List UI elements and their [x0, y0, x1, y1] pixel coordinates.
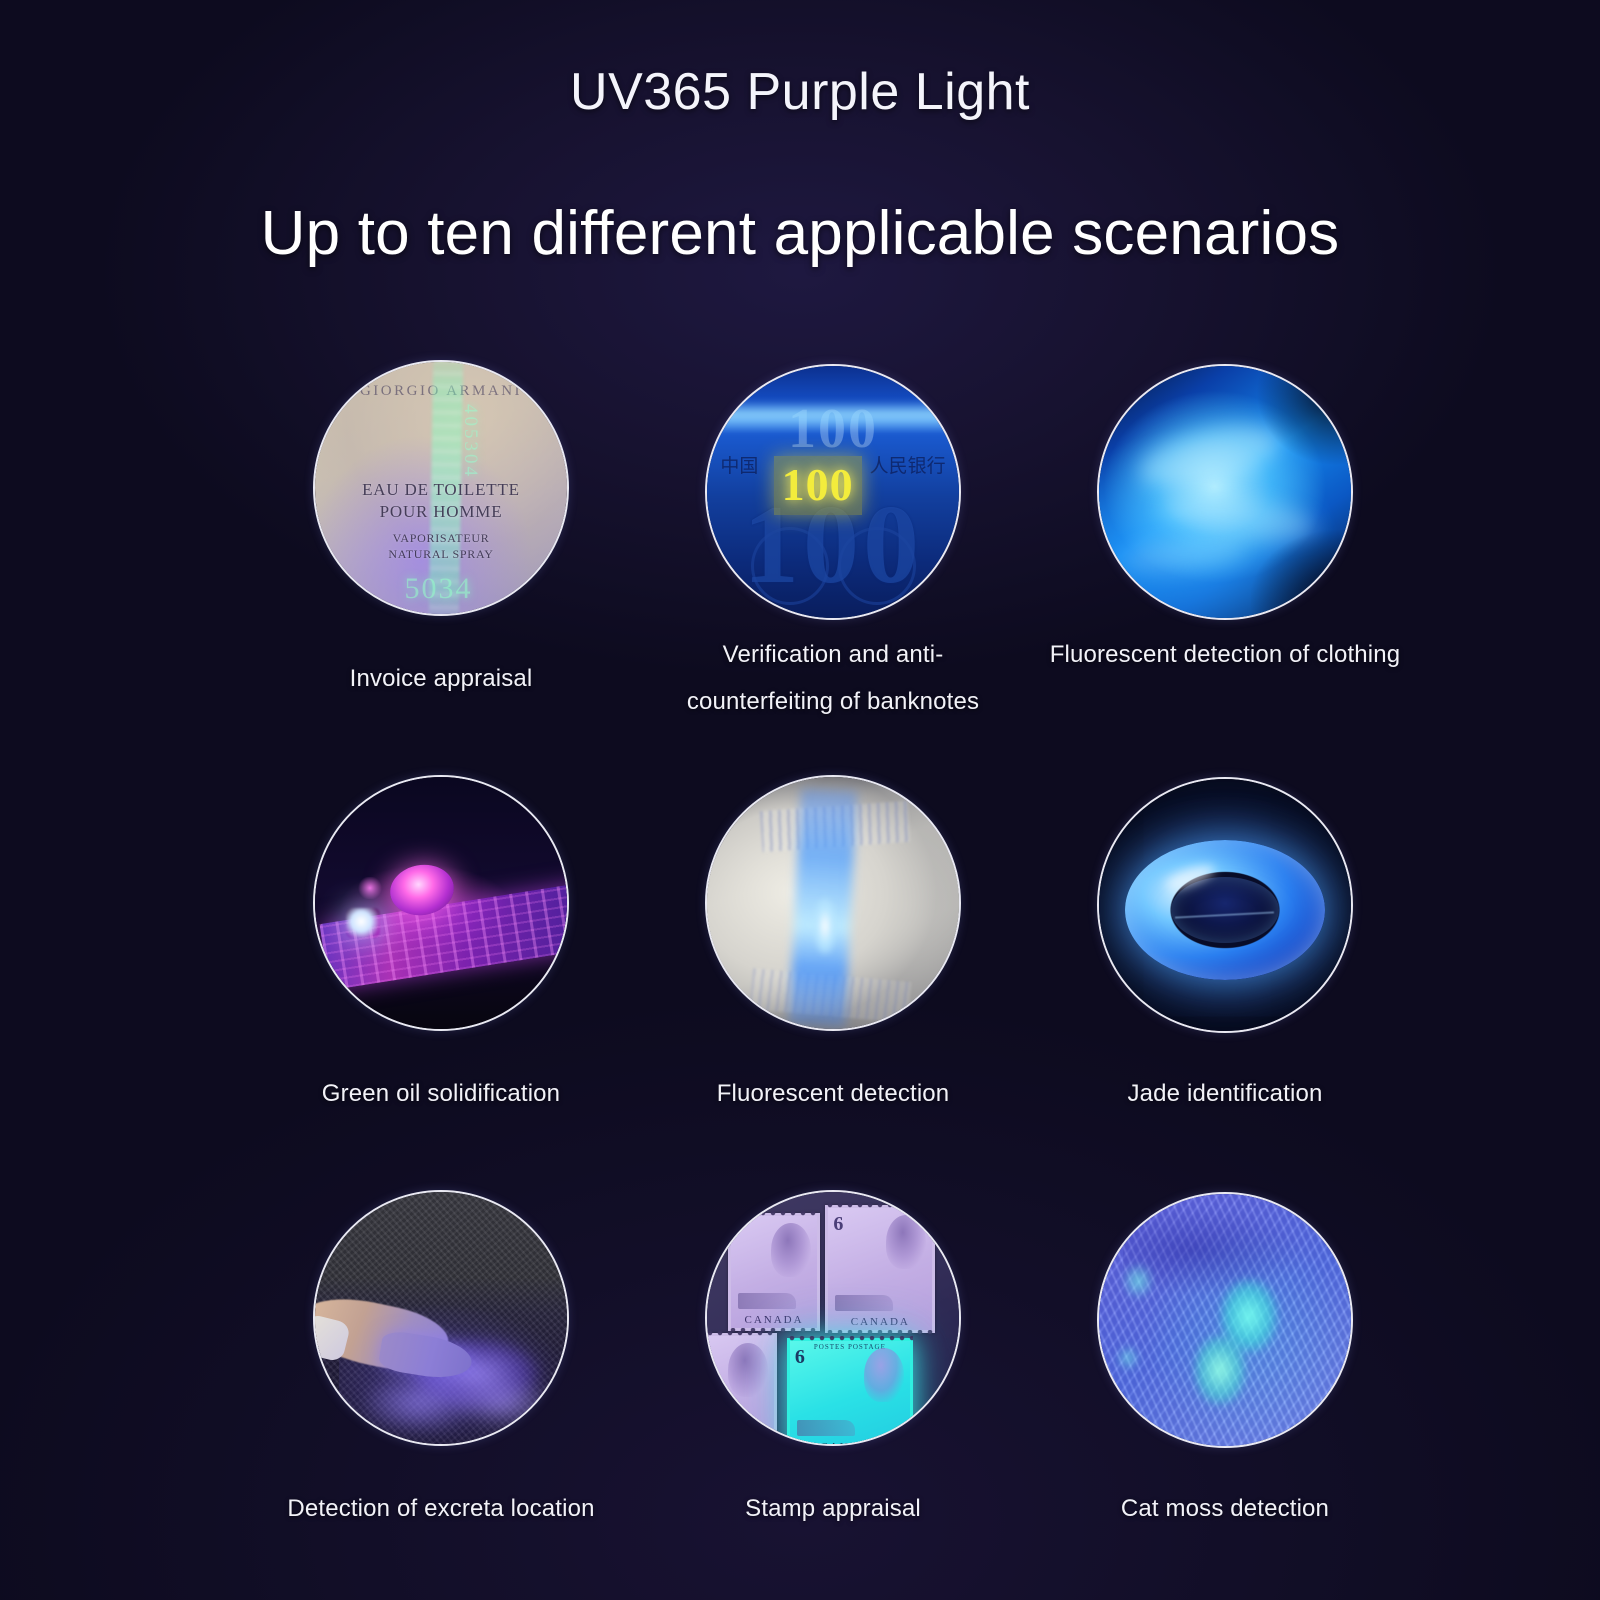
scenario-photo-stamps: CANADA 6 CANADA: [705, 1190, 961, 1446]
page-subtitle: Up to ten different applicable scenarios: [0, 198, 1600, 269]
scenario-image-wrap: [1097, 1192, 1353, 1448]
bank-text-right: 人民银行: [870, 451, 946, 478]
fluorescent-ringworm-patch: [1117, 1346, 1139, 1370]
stamp-country: CANADA: [787, 1441, 913, 1446]
cat-fur-photo: [1097, 1192, 1353, 1448]
postage-stamps-photo: CANADA 6 CANADA: [705, 1190, 961, 1446]
scenario-grid: GIORGIO ARMANI 405304 EAU DE TOILETTE PO…: [245, 360, 1420, 1600]
scenario-photo-circuit: [313, 775, 569, 1031]
perfume-line-3: VAPORISATEUR: [313, 531, 569, 546]
stamp-perforation: [787, 1336, 913, 1341]
stamp-country: CANADA: [728, 1314, 820, 1326]
banknote-seal-right: [838, 527, 916, 605]
infographic-page: UV365 Purple Light Up to ten different a…: [0, 0, 1600, 1600]
stamp-perforation: [825, 1330, 935, 1335]
pcb-uv-spark: [357, 877, 383, 899]
stamp-engraving: [738, 1293, 796, 1309]
scenario-card-stamp-appraisal[interactable]: CANADA 6 CANADA: [637, 1190, 1029, 1600]
perfume-label-photo: GIORGIO ARMANI 405304 EAU DE TOILETTE PO…: [313, 360, 569, 616]
fluorescent-ringworm-patch: [1194, 1335, 1246, 1405]
fluorescent-ringworm-patch: [1123, 1264, 1153, 1298]
scenario-photo-carpet: [313, 1190, 569, 1446]
scenario-caption: Fluorescent detection of clothing: [1029, 632, 1421, 679]
stamp-value: 6: [833, 1213, 843, 1236]
banknote-seal-left: [751, 527, 829, 605]
stamp-fluorescent: POSTES POSTAGE 6 CANADA: [787, 1338, 913, 1446]
scenario-photo-invoice: GIORGIO ARMANI 405304 EAU DE TOILETTE PO…: [313, 360, 569, 616]
queen-portrait: [771, 1223, 811, 1277]
stamp: 6 CANADA: [825, 1205, 935, 1333]
pcb-led-glow: [346, 908, 380, 938]
stamp-top-text: POSTES POSTAGE: [787, 1343, 913, 1351]
uv-vertical-code: 405304: [459, 404, 481, 479]
scenario-card-invoice-appraisal[interactable]: GIORGIO ARMANI 405304 EAU DE TOILETTE PO…: [245, 360, 637, 775]
scenario-image-wrap: [705, 775, 961, 1031]
scenario-caption: Invoice appraisal: [245, 656, 637, 703]
scenario-image-wrap: [1097, 364, 1353, 620]
bank-text-left: 中国: [720, 451, 758, 478]
uv-bottom-code: 5034: [404, 572, 472, 606]
scenario-card-jade-identification[interactable]: Jade identification: [1029, 775, 1421, 1190]
perfume-line-1: EAU DE TOILETTE: [313, 480, 569, 500]
scenario-image-wrap: GIORGIO ARMANI 405304 EAU DE TOILETTE PO…: [313, 360, 569, 616]
perfume-line-4: NATURAL SPRAY: [313, 547, 569, 562]
stamp-country: CANADA: [825, 1316, 935, 1328]
carpet-uv-photo: [313, 1190, 569, 1446]
scenario-caption: Cat moss detection: [1029, 1486, 1421, 1533]
banknote-uv-fluorescent-value: 100: [774, 456, 862, 515]
scenario-card-clothing-fluorescence[interactable]: Fluorescent detection of clothing: [1029, 360, 1421, 775]
stamp-engraving: [835, 1295, 893, 1311]
scenario-caption: Verification and anti- counterfeiting of…: [637, 632, 1029, 726]
scenario-caption: Detection of excreta location: [245, 1486, 637, 1533]
jade-bangle-hole: [1171, 877, 1279, 943]
page-title: UV365 Purple Light: [0, 62, 1600, 122]
scenario-photo-jade: [1097, 777, 1353, 1033]
scenario-caption: Fluorescent detection: [637, 1071, 1029, 1118]
scenario-card-excreta-location[interactable]: Detection of excreta location: [245, 1190, 637, 1600]
fabric-shadow: [1251, 530, 1353, 620]
stamp-perforation: [728, 1211, 820, 1216]
scenario-card-fluorescent-detection[interactable]: Fluorescent detection: [637, 775, 1029, 1190]
stamp-engraving: [797, 1420, 855, 1436]
uv-beam-streak: [705, 400, 961, 433]
uv-beam-hotspot: [814, 898, 836, 954]
scenario-caption: Green oil solidification: [245, 1071, 637, 1118]
stamp-perforation: [705, 1442, 777, 1446]
scenario-caption: Stamp appraisal: [637, 1486, 1029, 1533]
queen-portrait: [728, 1343, 768, 1397]
scenario-photo-cat: [1097, 1192, 1353, 1448]
queen-portrait: [886, 1215, 926, 1269]
scenario-image-wrap: [1097, 777, 1353, 1033]
scenario-image-wrap: [313, 1190, 569, 1446]
jade-bangle-photo: [1097, 777, 1353, 1033]
scenario-card-cat-moss-detection[interactable]: Cat moss detection: [1029, 1190, 1421, 1600]
scenario-photo-clothing: [1097, 364, 1353, 620]
scenario-card-green-oil-solidification[interactable]: Green oil solidification: [245, 775, 637, 1190]
scenario-photo-diaper: [705, 775, 961, 1031]
scenario-caption-line-1: Verification and anti-: [723, 641, 944, 668]
perfume-line-2: POUR HOMME: [313, 502, 569, 522]
perfume-label-block: EAU DE TOILETTE POUR HOMME VAPORISATEUR …: [313, 480, 569, 562]
stamp-perforation: [825, 1203, 935, 1208]
stamp-perforation: [705, 1331, 777, 1336]
scenario-card-banknote-verification[interactable]: 100 中国 人民银行 100 100 Verification and ant…: [637, 360, 1029, 775]
circuit-board-photo: [313, 775, 569, 1031]
scenario-image-wrap: 100 中国 人民银行 100 100: [705, 364, 961, 620]
scenario-photo-banknote: 100 中国 人民银行 100 100: [705, 364, 961, 620]
scenario-image-wrap: CANADA 6 CANADA: [705, 1190, 961, 1446]
fabric-shadow: [1256, 364, 1353, 466]
glowing-fabric-photo: [1097, 364, 1353, 620]
scenario-caption: Jade identification: [1029, 1071, 1421, 1118]
fabric-fold: [1121, 532, 1247, 578]
scenario-caption-line-2: counterfeiting of banknotes: [687, 688, 979, 715]
queen-portrait: [864, 1348, 904, 1402]
scenario-image-wrap: [313, 775, 569, 1031]
stamp-value: 6: [795, 1346, 805, 1369]
stamp: [705, 1333, 777, 1445]
banknote-photo: 100 中国 人民银行 100 100: [705, 364, 961, 620]
stamp: CANADA: [728, 1213, 820, 1331]
diaper-uv-photo: [705, 775, 961, 1031]
